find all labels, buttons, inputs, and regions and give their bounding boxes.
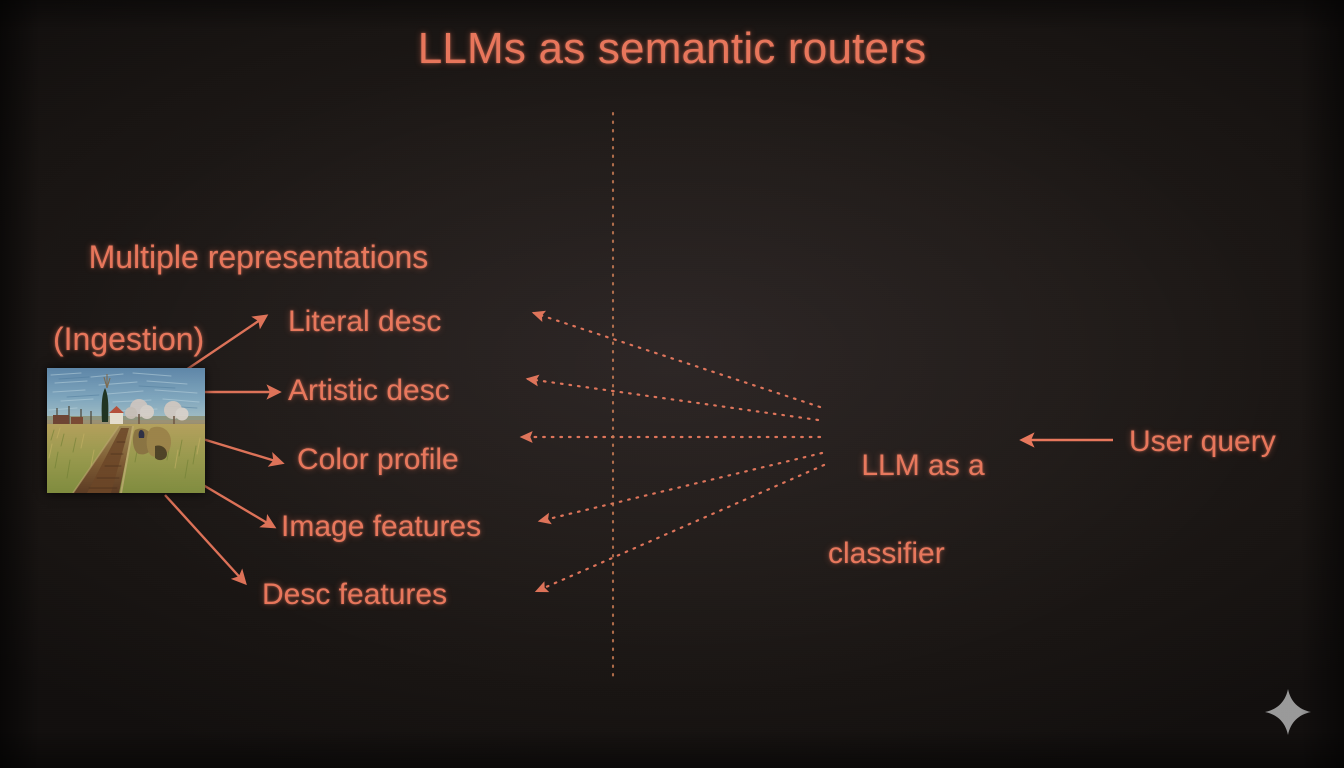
- representation-label-artistic-desc: Artistic desc: [288, 374, 450, 408]
- representation-label-literal-desc: Literal desc: [288, 305, 441, 339]
- slide-canvas: LLMs as semantic routers Multiple repres…: [0, 0, 1344, 768]
- representation-label-desc-features: Desc features: [262, 578, 447, 612]
- arrow-image-to-desc-features: [165, 495, 245, 583]
- arrow-llm-to-artistic-desc: [528, 379, 818, 420]
- page-title: LLMs as semantic routers: [0, 24, 1344, 74]
- representation-label-color-profile: Color profile: [297, 443, 459, 477]
- ingestion-heading-line1: Multiple representations: [89, 239, 429, 275]
- arrow-image-to-image-features: [193, 479, 274, 527]
- representation-label-image-features: Image features: [281, 510, 481, 544]
- llm-classifier-label: LLM as a classifier: [828, 400, 985, 664]
- arrow-llm-to-image-features: [540, 453, 822, 521]
- arrow-llm-to-literal-desc: [534, 313, 820, 407]
- arrow-llm-to-desc-features: [537, 465, 824, 591]
- routing-arrow-group: [522, 313, 824, 591]
- llm-classifier-line1: LLM as a: [861, 449, 984, 482]
- user-query-label: User query: [1129, 425, 1276, 459]
- llm-classifier-line2: classifier: [828, 532, 985, 576]
- sparkle-icon: [1264, 688, 1312, 736]
- painting-illustration: [47, 368, 205, 493]
- source-image-thumbnail: [47, 368, 205, 493]
